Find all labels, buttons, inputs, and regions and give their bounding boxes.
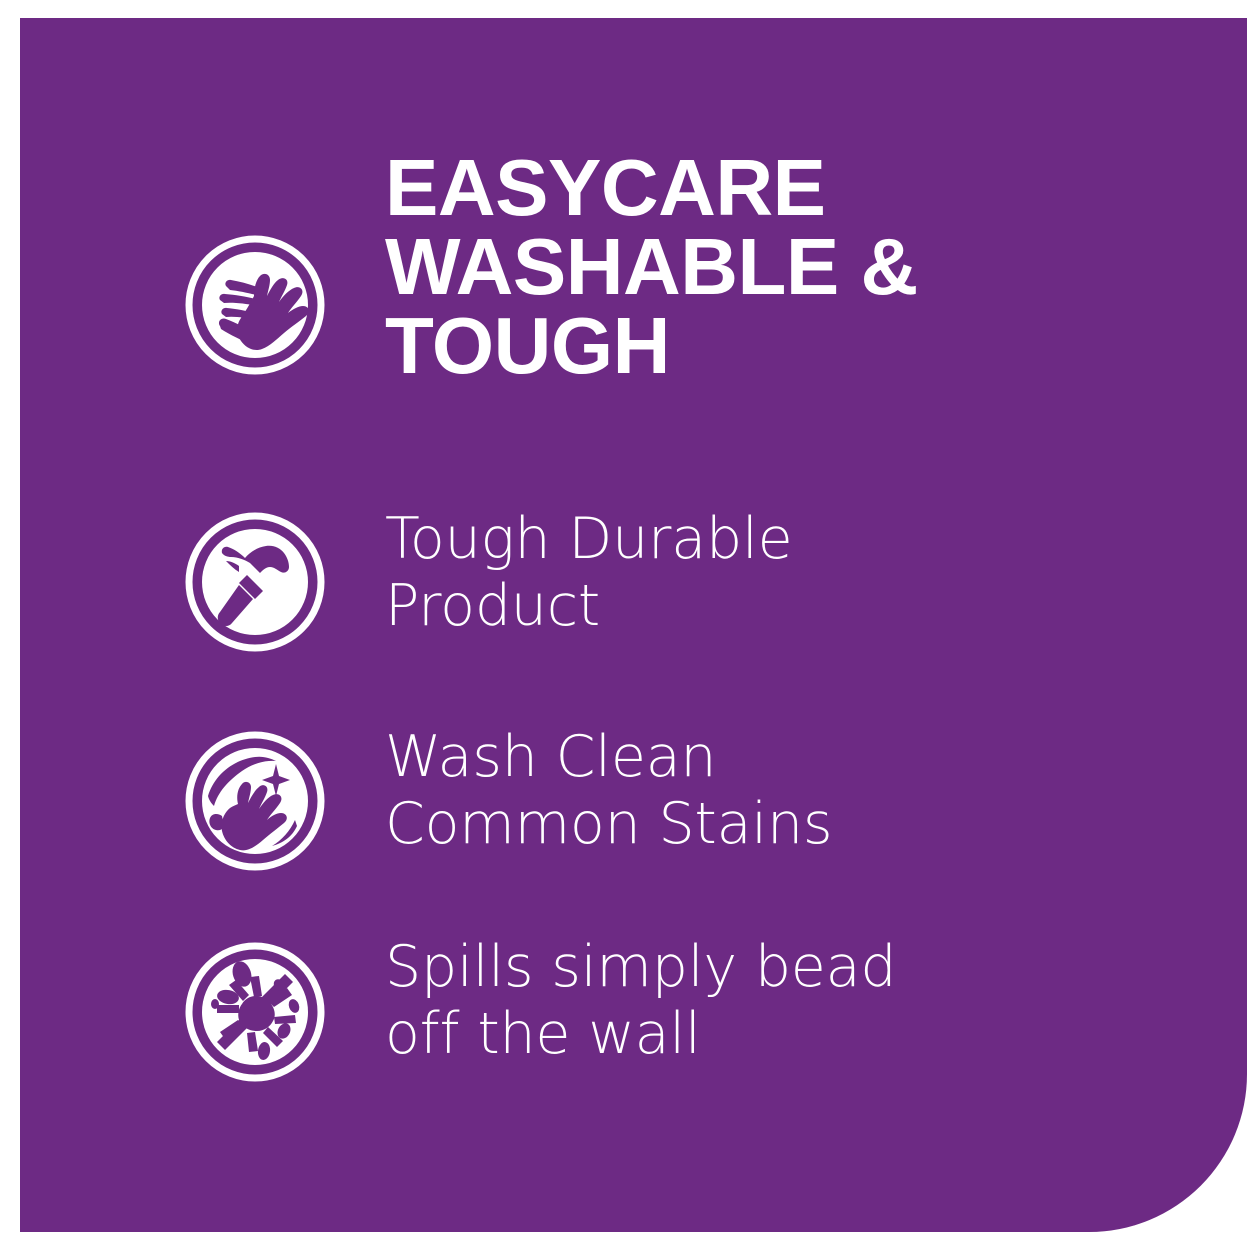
icon-slot: [175, 934, 335, 1083]
feature-label: Spills simply bead off the wall: [385, 934, 896, 1067]
feature-label: Tough Durable Product: [385, 506, 792, 639]
feature-list: EASYCARE WASHABLE & TOUGH: [20, 18, 1247, 1232]
icon-slot: [175, 148, 335, 376]
text-slot: Tough Durable Product: [335, 506, 792, 639]
feature-row-tough-durable: Tough Durable Product: [175, 506, 792, 653]
feature-label: Wash Clean Common Stains: [385, 724, 832, 857]
purple-panel: EASYCARE WASHABLE & TOUGH: [20, 18, 1247, 1232]
feature-row-wash-clean: Wash Clean Common Stains: [175, 724, 832, 872]
feature-row-spills-bead: Spills simply bead off the wall: [175, 934, 896, 1083]
no-splatter-stain-icon: [184, 941, 326, 1083]
icon-slot: [175, 724, 335, 872]
text-slot: Spills simply bead off the wall: [335, 934, 896, 1067]
page-title: EASYCARE WASHABLE & TOUGH: [385, 148, 918, 386]
text-slot: EASYCARE WASHABLE & TOUGH: [335, 148, 918, 386]
icon-slot: [175, 506, 335, 653]
feature-row-easycare: EASYCARE WASHABLE & TOUGH: [175, 148, 918, 386]
text-slot: Wash Clean Common Stains: [335, 724, 832, 857]
product-feature-panel: EASYCARE WASHABLE & TOUGH: [0, 0, 1250, 1250]
washing-hands-icon: [184, 234, 326, 376]
wiping-hand-sparkle-icon: [184, 730, 326, 872]
hammer-icon: [184, 511, 326, 653]
